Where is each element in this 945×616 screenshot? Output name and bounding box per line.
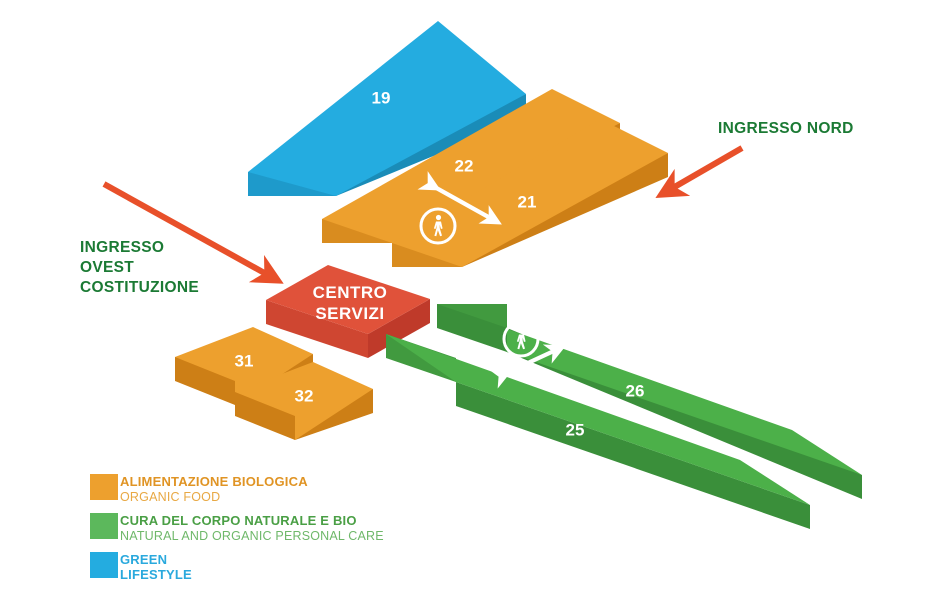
legend-swatch-organic-food	[90, 474, 118, 500]
pav-32-label: 32	[295, 386, 314, 405]
legend: ALIMENTAZIONE BIOLOGICA ORGANIC FOOD CUR…	[90, 474, 384, 582]
legend-subtitle-personal-care: NATURAL AND ORGANIC PERSONAL CARE	[120, 529, 384, 543]
map-canvas: 19 22 21 CENTRO SERVIZI 26	[0, 0, 945, 616]
fair-map: 19 22 21 CENTRO SERVIZI 26	[0, 0, 945, 616]
legend-title-green-lifestyle: GREEN	[120, 552, 167, 567]
ingresso-ovest-label: INGRESSO OVEST COSTITUZIONE	[80, 239, 199, 296]
legend-title-personal-care: CURA DEL CORPO NATURALE E BIO	[120, 513, 357, 528]
pav-26-label: 26	[626, 381, 645, 400]
ingresso-nord-label: INGRESSO NORD	[718, 120, 854, 137]
legend-item-organic-food[interactable]: ALIMENTAZIONE BIOLOGICA ORGANIC FOOD	[90, 474, 308, 504]
pav-21-label: 21	[518, 192, 537, 211]
ingresso-nord-line-1: INGRESSO NORD	[718, 120, 854, 137]
legend-swatch-personal-care	[90, 513, 118, 539]
legend-title-organic-food: ALIMENTAZIONE BIOLOGICA	[120, 474, 308, 489]
centro-servizi-line-2: SERVIZI	[315, 304, 384, 323]
ingresso-ovest-line-1: INGRESSO	[80, 239, 164, 256]
ingresso-nord-arrow	[671, 148, 742, 189]
pav-31-label: 31	[235, 351, 254, 370]
ingresso-ovest-line-3: COSTITUZIONE	[80, 279, 199, 296]
legend-swatch-green-lifestyle	[90, 552, 118, 578]
legend-item-personal-care[interactable]: CURA DEL CORPO NATURALE E BIO NATURAL AN…	[90, 513, 384, 543]
legend-item-green-lifestyle[interactable]: GREEN LIFESTYLE	[90, 552, 192, 582]
pav-22-label: 22	[455, 156, 474, 175]
pav-25-label: 25	[566, 420, 585, 439]
centro-servizi-line-1: CENTRO	[313, 283, 388, 302]
ingresso-ovest-line-2: OVEST	[80, 259, 134, 276]
legend-subtitle-green-lifestyle: LIFESTYLE	[120, 567, 192, 582]
pav-19-label: 19	[372, 88, 391, 107]
legend-subtitle-organic-food: ORGANIC FOOD	[120, 490, 220, 504]
